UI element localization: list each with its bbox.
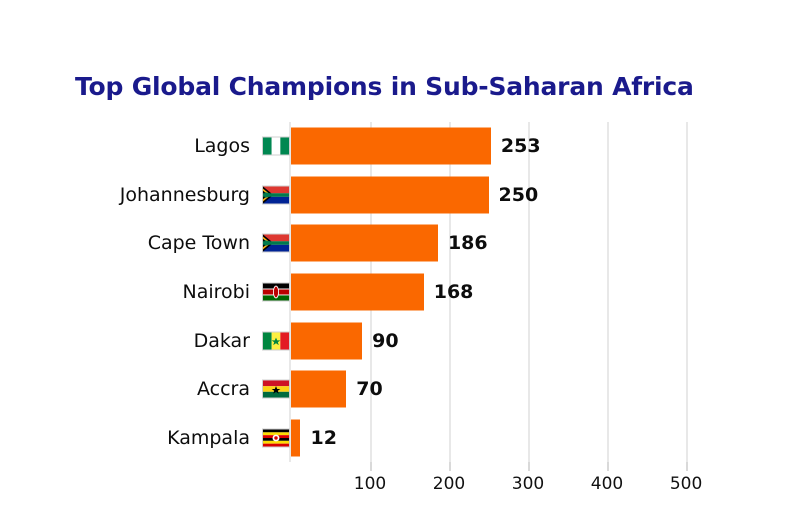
bar-accra[interactable] (291, 371, 346, 408)
x-axis: 100200300400500 (291, 462, 690, 507)
x-tick-label: 200 (433, 474, 465, 494)
bar-value-label: 253 (501, 135, 541, 157)
bar-dakar[interactable] (291, 322, 362, 359)
x-tick-label: 400 (591, 474, 623, 494)
category-label-nairobi: Nairobi (183, 281, 251, 303)
tick-mark-500 (686, 462, 688, 471)
flag-icon-kenya (262, 282, 290, 301)
bar-value-label: 70 (356, 378, 382, 400)
bar-row: Johannesburg250 (0, 171, 790, 220)
category-label-johannesburg: Johannesburg (120, 184, 250, 206)
bar-row: Kampala12 (0, 413, 790, 462)
flag-icon-nigeria (262, 137, 290, 156)
flag-icon-south-africa (262, 234, 290, 253)
bar-chart: Top Global Champions in Sub-Saharan Afri… (0, 0, 790, 525)
bar-value-label: 250 (499, 184, 539, 206)
chart-title: Top Global Champions in Sub-Saharan Afri… (75, 72, 694, 101)
flag-icon-senegal (262, 331, 290, 350)
bar-row: Dakar90 (0, 316, 790, 365)
category-label-accra: Accra (197, 378, 250, 400)
bar-lagos[interactable] (291, 128, 491, 165)
flag-icon-ghana (262, 380, 290, 399)
bar-cape-town[interactable] (291, 225, 438, 262)
tick-mark-400 (607, 462, 609, 471)
flag-icon-uganda (262, 428, 290, 447)
bar-value-label: 90 (372, 330, 398, 352)
x-tick-label: 500 (670, 474, 702, 494)
bar-row: Nairobi168 (0, 268, 790, 317)
bar-value-label: 12 (310, 427, 336, 449)
bar-row: Cape Town186 (0, 219, 790, 268)
tick-mark-300 (528, 462, 530, 471)
x-tick-label: 100 (354, 474, 386, 494)
bar-row: Lagos253 (0, 122, 790, 171)
category-label-cape-town: Cape Town (148, 232, 250, 254)
bar-johannesburg[interactable] (291, 176, 489, 213)
category-label-kampala: Kampala (167, 427, 250, 449)
bar-rows: Lagos253Johannesburg250Cape Town186Nairo… (0, 122, 790, 462)
tick-mark-100 (370, 462, 372, 471)
bar-row: Accra70 (0, 365, 790, 414)
bar-kampala[interactable] (291, 419, 300, 456)
category-label-dakar: Dakar (194, 330, 250, 352)
x-tick-label: 300 (512, 474, 544, 494)
bar-value-label: 186 (448, 232, 488, 254)
bar-value-label: 168 (434, 281, 474, 303)
category-label-lagos: Lagos (194, 135, 250, 157)
bar-nairobi[interactable] (291, 273, 424, 310)
tick-mark-200 (449, 462, 451, 471)
flag-icon-south-africa (262, 185, 290, 204)
